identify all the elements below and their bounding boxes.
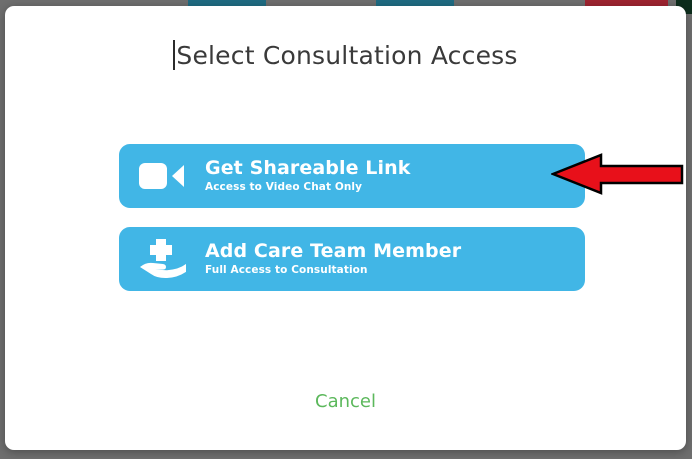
- hand-holding-medical-icon: [119, 239, 205, 279]
- option-subtitle: Access to Video Chat Only: [205, 181, 410, 195]
- add-care-team-member-button[interactable]: Add Care Team Member Full Access to Cons…: [119, 227, 585, 291]
- dialog-title-row: Select Consultation Access: [5, 40, 686, 70]
- consultation-access-dialog: Select Consultation Access Get Shareable…: [5, 6, 686, 450]
- add-care-team-member-labels: Add Care Team Member Full Access to Cons…: [205, 241, 461, 278]
- get-shareable-link-labels: Get Shareable Link Access to Video Chat …: [205, 158, 410, 195]
- get-shareable-link-button[interactable]: Get Shareable Link Access to Video Chat …: [119, 144, 585, 208]
- cancel-button[interactable]: Cancel: [5, 391, 686, 412]
- option-title: Get Shareable Link: [205, 158, 410, 179]
- page-title: Select Consultation Access: [176, 41, 517, 70]
- video-camera-icon: [119, 161, 205, 191]
- option-subtitle: Full Access to Consultation: [205, 264, 461, 278]
- option-title: Add Care Team Member: [205, 241, 461, 262]
